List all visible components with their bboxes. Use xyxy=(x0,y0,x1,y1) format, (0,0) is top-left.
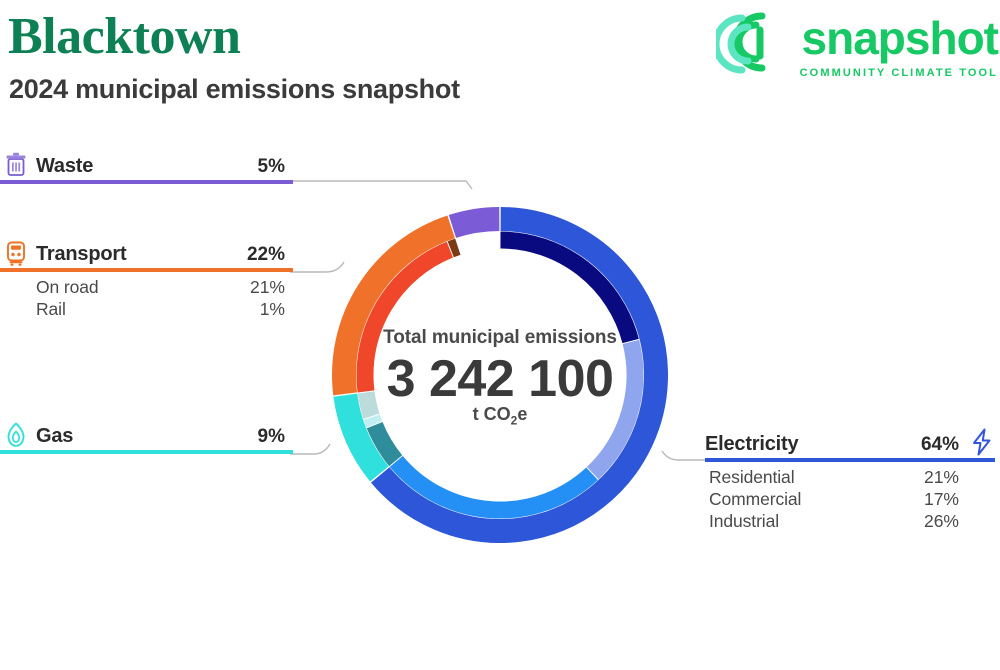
donut-center-caption: Total municipal emissions xyxy=(0,327,1000,349)
category-waste[interactable]: Waste 5% xyxy=(0,150,293,184)
category-electricity-subitems: Residential 21% Commercial 17% Industria… xyxy=(705,467,995,533)
category-transport-label: Transport xyxy=(36,243,126,266)
category-transport-subitems: On road 21% Rail 1% xyxy=(0,277,293,321)
emissions-snapshot-page: Blacktown 2024 municipal emissions snaps… xyxy=(0,0,1000,670)
list-item[interactable]: Industrial 26% xyxy=(705,511,995,533)
subitem-percent: 26% xyxy=(924,511,959,532)
unit-prefix: t CO xyxy=(473,404,511,424)
category-gas-label: Gas xyxy=(36,425,73,448)
list-item[interactable]: Residential 21% xyxy=(705,467,995,489)
category-electricity-bar xyxy=(705,458,995,462)
logo-wordmark: snapshot xyxy=(802,14,998,62)
category-electricity-percent: 64% xyxy=(921,434,959,456)
trash-can-icon xyxy=(4,152,28,178)
page-subtitle: 2024 municipal emissions snapshot xyxy=(9,72,460,106)
category-transport-bar xyxy=(0,268,293,272)
donut-center-value: 3 242 100 xyxy=(0,349,1000,409)
logo-tagline: COMMUNITY CLIMATE TOOL xyxy=(800,66,998,80)
category-electricity-header: Electricity 64% xyxy=(705,428,995,458)
category-waste-bar xyxy=(0,180,293,184)
subitem-percent: 21% xyxy=(924,467,959,488)
train-icon xyxy=(4,240,28,266)
category-electricity-label: Electricity xyxy=(705,433,798,456)
category-electricity[interactable]: Electricity 64% Residential 21% Commerci… xyxy=(705,428,995,533)
subitem-label: Commercial xyxy=(709,489,801,510)
spiral-swirl-icon xyxy=(716,6,788,80)
category-transport[interactable]: Transport 22% On road 21% Rail 1% xyxy=(0,238,293,321)
subitem-label: Industrial xyxy=(709,511,779,532)
category-waste-header: Waste 5% xyxy=(0,150,293,180)
unit-suffix: e xyxy=(517,404,527,424)
subitem-label: On road xyxy=(36,277,99,298)
category-waste-percent: 5% xyxy=(258,156,285,178)
subitem-percent: 1% xyxy=(260,299,285,320)
subitem-label: Residential xyxy=(709,467,794,488)
category-gas-percent: 9% xyxy=(258,426,285,448)
subitem-percent: 21% xyxy=(250,277,285,298)
category-transport-header: Transport 22% xyxy=(0,238,293,268)
snapshot-logo: snapshot COMMUNITY CLIMATE TOOL xyxy=(716,6,998,86)
subitem-label: Rail xyxy=(36,299,66,320)
page-title: Blacktown xyxy=(8,6,240,68)
list-item[interactable]: Commercial 17% xyxy=(705,489,995,511)
leader-line-waste xyxy=(290,176,480,192)
list-item[interactable]: Rail 1% xyxy=(0,299,293,321)
category-transport-percent: 22% xyxy=(247,244,285,266)
donut-center-unit: t CO2e xyxy=(0,404,1000,428)
category-gas-bar xyxy=(0,450,293,454)
lightning-bolt-icon xyxy=(969,428,995,456)
subitem-percent: 17% xyxy=(924,489,959,510)
category-waste-label: Waste xyxy=(36,155,93,178)
list-item[interactable]: On road 21% xyxy=(0,277,293,299)
